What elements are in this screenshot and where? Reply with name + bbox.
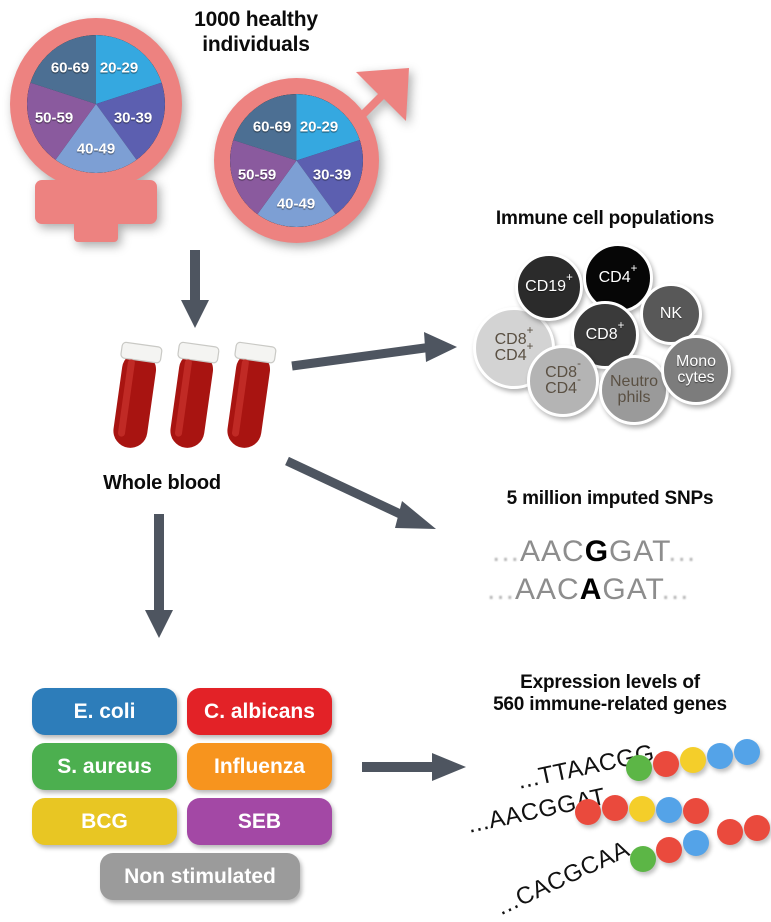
- arrow-blood-to-snps: [285, 455, 455, 545]
- stimulation-pill-c-albicans[interactable]: C. albicans: [187, 688, 332, 735]
- expression-title-line2: 560 immune-related genes: [455, 694, 765, 716]
- cell-label-line2: cytes: [676, 370, 716, 386]
- pill-label: S. aureus: [57, 755, 152, 779]
- immune-cell-cluster: CD8+ CD4+ CD19+ CD4+ NK CD8+ CD8- CD4- N…: [455, 235, 760, 430]
- cell-neutrophils: Neutro phils: [599, 355, 669, 425]
- cell-label: CD4+: [599, 270, 638, 286]
- whole-blood-label: Whole blood: [72, 472, 252, 496]
- snp-suffix: ...: [662, 573, 690, 606]
- arrow-blood-to-immune: [290, 330, 465, 380]
- expression-strands: ...TTAACGG ...AACGGAT ...CACGCAA: [440, 735, 771, 915]
- cell-monocytes: Mono cytes: [661, 335, 731, 405]
- pill-label: BCG: [81, 810, 128, 834]
- cohort-title-line1: 1000 healthy: [176, 8, 336, 33]
- pie-label-20-29: 20-29: [300, 119, 338, 136]
- pill-label: E. coli: [74, 700, 136, 724]
- expression-bead: [575, 799, 601, 825]
- stimulation-pill-seb[interactable]: SEB: [187, 798, 332, 845]
- pie-label-30-39: 30-39: [114, 110, 152, 127]
- expression-bead: [707, 743, 733, 769]
- snp-variant: G: [585, 535, 609, 568]
- pie-label-50-59: 50-59: [35, 110, 73, 127]
- stimulation-pill-e-coli[interactable]: E. coli: [32, 688, 177, 735]
- pie-label-20-29: 20-29: [100, 60, 138, 77]
- pie-label-50-59: 50-59: [238, 167, 276, 184]
- figure-canvas: 20-29 30-39 40-49 50-59 60-69 20-29 30-3…: [0, 0, 771, 922]
- expression-bead: [602, 795, 628, 821]
- cell-label: NK: [660, 306, 682, 322]
- expression-bead: [629, 796, 655, 822]
- section-title-snps: 5 million imputed SNPs: [470, 488, 750, 510]
- expression-bead: [656, 837, 682, 863]
- pie-label-60-69: 60-69: [253, 119, 291, 136]
- section-title-immune: Immune cell populations: [455, 208, 755, 230]
- blood-tubes: [96, 338, 286, 468]
- page-title-cohort: 1000 healthy individuals: [176, 8, 336, 58]
- cell-label-line2: CD4+: [495, 348, 534, 364]
- cohort-title-line2: individuals: [176, 33, 336, 58]
- cell-label-line2: CD4-: [545, 381, 581, 397]
- pie-label-30-39: 30-39: [313, 167, 351, 184]
- female-symbol: 20-29 30-39 40-49 50-59 60-69: [6, 14, 186, 244]
- cell-label: CD19+: [525, 279, 573, 295]
- pie-label-40-49: 40-49: [77, 141, 115, 158]
- expression-bead: [656, 797, 682, 823]
- cell-label-line1: Neutro: [610, 374, 658, 390]
- snp-sequence-row-1: ...AACGGAT...: [492, 535, 696, 569]
- cell-label-line1: CD8-: [545, 365, 581, 381]
- snp-prefix: ...: [492, 535, 520, 568]
- pill-label: SEB: [238, 810, 281, 834]
- cell-cd19pos: CD19+: [515, 253, 583, 321]
- snp-left: AAC: [515, 573, 580, 606]
- arrow-cohort-to-blood: [178, 250, 212, 332]
- stimulation-pill-bcg[interactable]: BCG: [32, 798, 177, 845]
- expression-title-line1: Expression levels of: [455, 672, 765, 694]
- pie-label-60-69: 60-69: [51, 60, 89, 77]
- expression-bead: [626, 755, 652, 781]
- snp-variant: A: [580, 573, 603, 606]
- cell-label: CD8+: [586, 327, 625, 343]
- stimulation-pill-non-stimulated[interactable]: Non stimulated: [100, 853, 300, 900]
- cell-label-line2: phils: [610, 390, 658, 406]
- pill-label: C. albicans: [204, 700, 315, 724]
- expression-bead: [653, 751, 679, 777]
- section-title-expression: Expression levels of 560 immune-related …: [455, 672, 765, 717]
- snp-right: GAT: [602, 573, 661, 606]
- expression-bead: [683, 798, 709, 824]
- expression-bead: [734, 739, 760, 765]
- snp-left: AAC: [520, 535, 585, 568]
- stimulation-pill-s-aureus[interactable]: S. aureus: [32, 743, 177, 790]
- expression-sequence-3: ...CACGCAA: [492, 836, 634, 922]
- expression-bead: [630, 846, 656, 872]
- pie-label-40-49: 40-49: [277, 196, 315, 213]
- expression-bead: [744, 815, 770, 841]
- cell-label-line1: Mono: [676, 354, 716, 370]
- arrow-blood-to-stimulations: [142, 514, 178, 642]
- stimulation-pill-influenza[interactable]: Influenza: [187, 743, 332, 790]
- pill-label: Non stimulated: [124, 865, 276, 889]
- expression-bead: [680, 747, 706, 773]
- cell-cd8neg-cd4neg: CD8- CD4-: [527, 345, 599, 417]
- pill-label: Influenza: [214, 755, 305, 779]
- expression-bead: [683, 830, 709, 856]
- snp-prefix: ...: [487, 573, 515, 606]
- expression-bead: [717, 819, 743, 845]
- snp-right: GAT: [609, 535, 668, 568]
- snp-suffix: ...: [668, 535, 696, 568]
- snp-sequence-row-2: ...AACAGAT...: [487, 573, 690, 607]
